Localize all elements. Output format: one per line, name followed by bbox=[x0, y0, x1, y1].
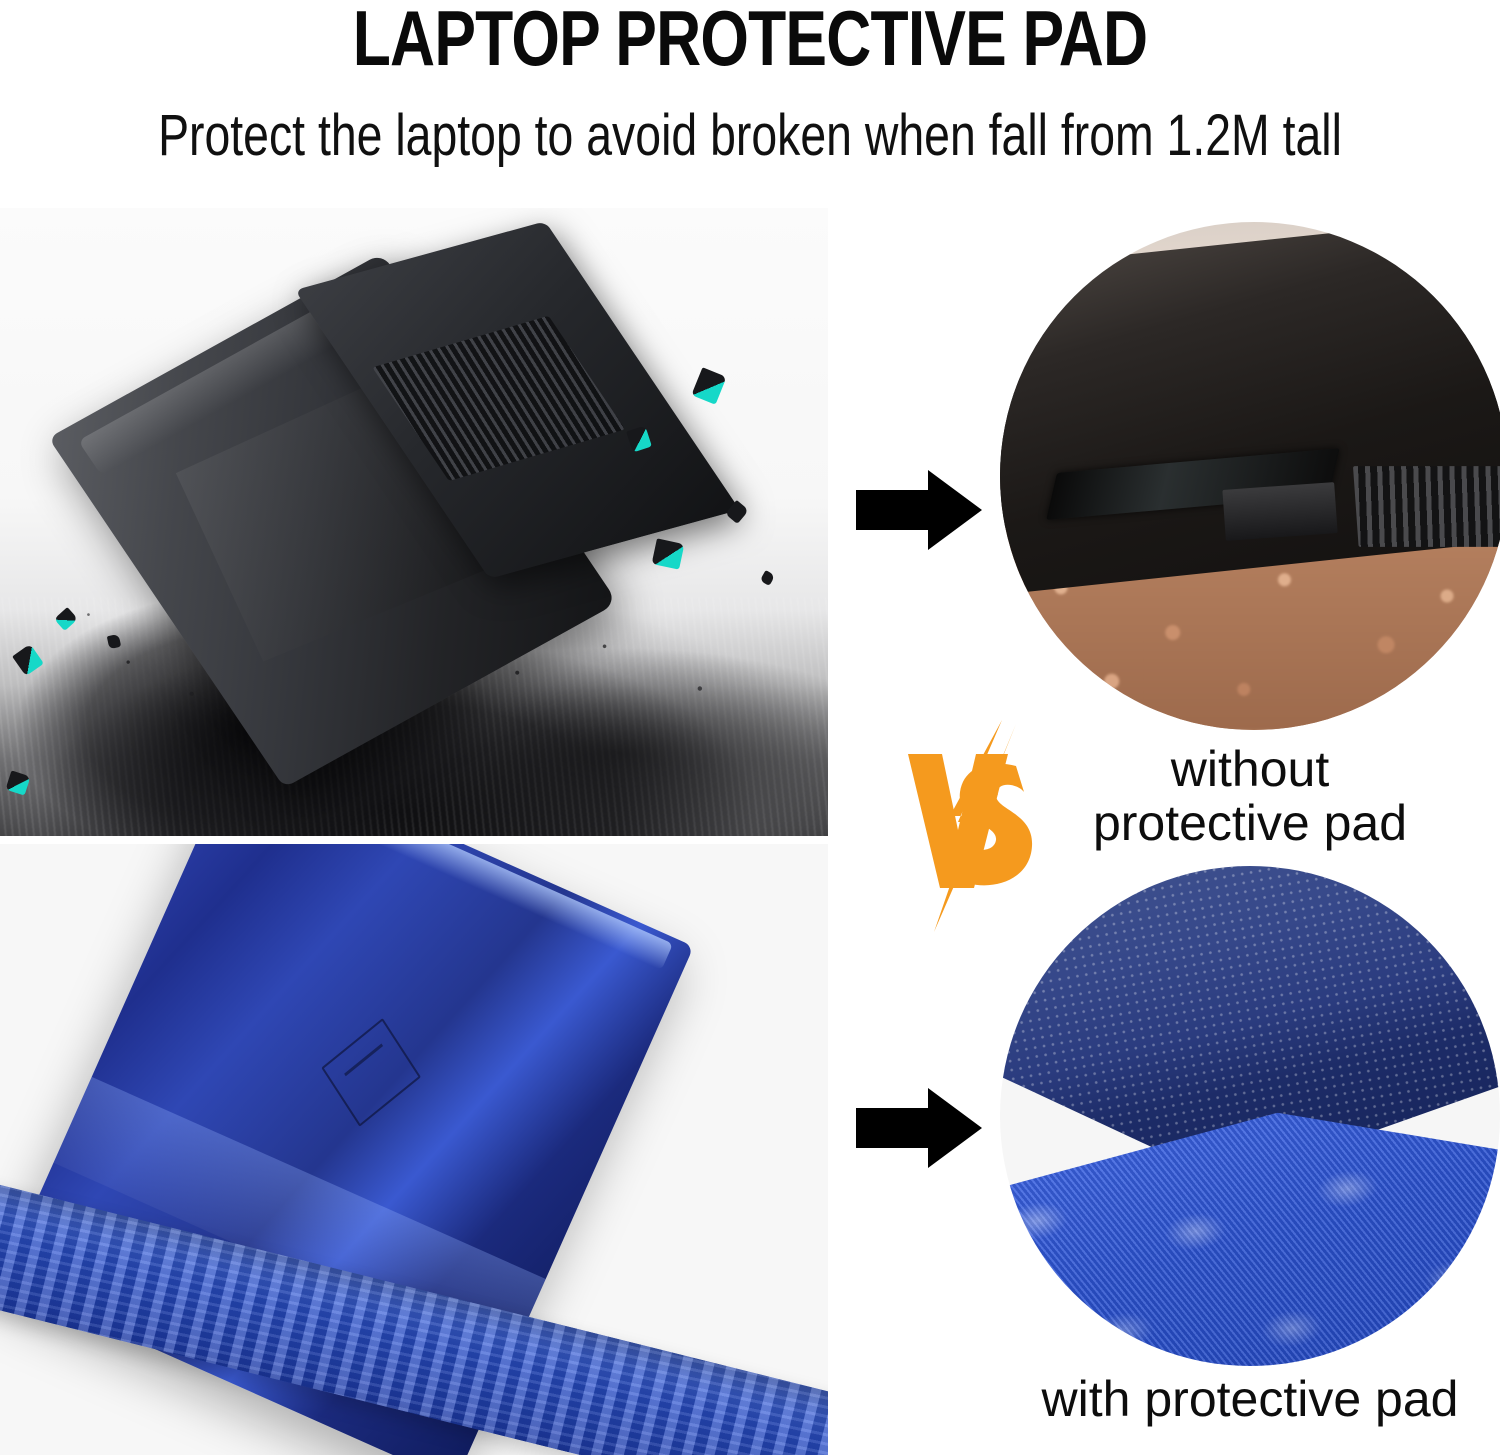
page-subtitle: Protect the laptop to avoid broken when … bbox=[150, 104, 1350, 168]
debris-chunk bbox=[652, 538, 685, 569]
laptop-port bbox=[1222, 482, 1337, 540]
blue-laptop-on-pad-photo bbox=[0, 844, 828, 1455]
arrow-right-icon bbox=[856, 1080, 982, 1176]
arrow-right-icon bbox=[856, 462, 982, 558]
laptop-corner-on-pad-photo bbox=[1000, 866, 1500, 1366]
dark-gaming-laptop-crashing-photo bbox=[0, 208, 828, 836]
header: LAPTOP PROTECTIVE PAD Protect the laptop… bbox=[0, 0, 1500, 200]
page-title: LAPTOP PROTECTIVE PAD bbox=[150, 0, 1350, 80]
caption-with-pad: with protective pad bbox=[1000, 1372, 1500, 1426]
broken-laptop-corner-photo bbox=[1000, 222, 1500, 730]
asus-logo bbox=[321, 1017, 421, 1126]
caption-without-pad: without protective pad bbox=[1040, 742, 1460, 850]
product-feature-image: LAPTOP PROTECTIVE PAD Protect the laptop… bbox=[0, 0, 1500, 1455]
laptop-vents bbox=[1353, 466, 1500, 547]
